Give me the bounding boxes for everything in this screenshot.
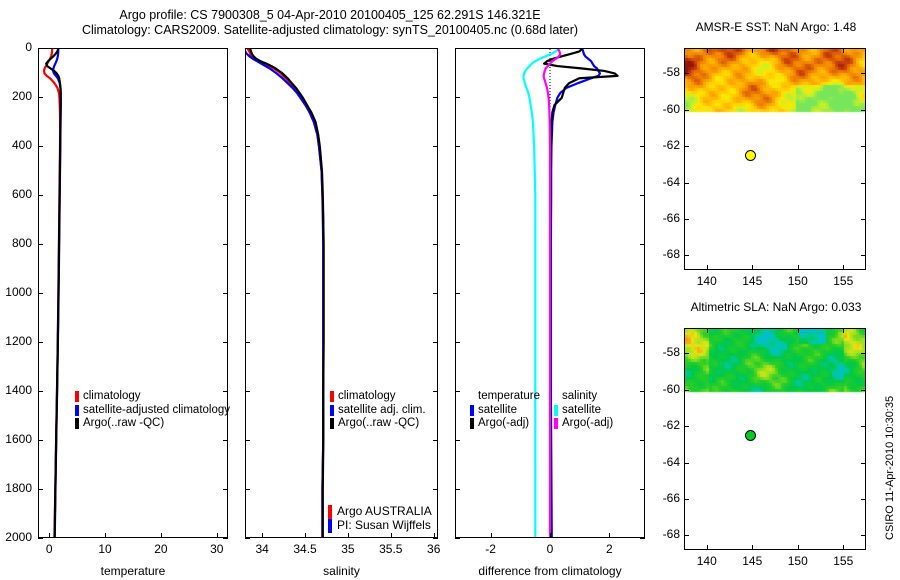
y-tick <box>433 97 438 98</box>
y-tick <box>640 538 645 539</box>
y-tick <box>455 97 460 98</box>
sst-argo-marker <box>745 150 756 161</box>
legend-group-header: temperature <box>470 390 540 404</box>
legend-color-swatch <box>330 405 334 416</box>
legend-label: Argo(-adj) <box>478 417 529 431</box>
legend-label: Argo(..raw -QC) <box>83 417 164 431</box>
y-tick <box>223 146 228 147</box>
y-tick <box>684 110 689 111</box>
y-tick <box>245 489 250 490</box>
y-tick <box>38 48 43 49</box>
x-tick-label: 30 <box>195 542 239 556</box>
y-tick <box>433 440 438 441</box>
legend-item: satellite adj. clim. <box>330 404 426 418</box>
y-tick <box>38 195 43 196</box>
temperature-profile-panel[interactable] <box>38 48 228 538</box>
x-tick <box>798 265 799 270</box>
y-tick <box>433 293 438 294</box>
y-tick-label: -66 <box>652 491 680 505</box>
y-tick <box>245 293 250 294</box>
x-tick <box>161 533 162 538</box>
y-tick-label: 1600 <box>0 432 32 446</box>
y-tick <box>223 440 228 441</box>
x-tick <box>305 533 306 538</box>
y-tick <box>861 219 866 220</box>
x-tick-label: 0 <box>528 542 572 556</box>
y-tick-label: -66 <box>652 211 680 225</box>
y-tick-label: 200 <box>0 89 32 103</box>
y-tick-label: 1000 <box>0 285 32 299</box>
difference-profile-panel[interactable] <box>455 48 645 538</box>
y-tick <box>455 48 460 49</box>
figure-title-line2: Climatology: CARS2009. Satellite-adjuste… <box>0 23 660 38</box>
sla-heatmap-canvas <box>685 329 865 549</box>
x-tick <box>798 545 799 550</box>
legend-item: satellite <box>554 404 613 418</box>
legend-color-swatch <box>554 418 558 429</box>
x-tick-label: 140 <box>687 554 727 568</box>
x-tick-label: 34.5 <box>283 542 327 556</box>
difference-legend: temperaturesatelliteArgo(-adj)salinitysa… <box>470 390 645 431</box>
y-tick-label: -60 <box>652 382 680 396</box>
y-tick <box>245 146 250 147</box>
y-tick <box>433 342 438 343</box>
salinity-profile-panel[interactable] <box>245 48 438 538</box>
y-tick <box>455 293 460 294</box>
y-tick <box>861 73 866 74</box>
figure-title: Argo profile: CS 7900308_5 04-Apr-2010 2… <box>0 8 660 38</box>
y-tick <box>433 146 438 147</box>
y-tick <box>861 390 866 391</box>
y-tick <box>684 146 689 147</box>
y-tick <box>861 463 866 464</box>
y-tick <box>455 195 460 196</box>
legend-color-swatch <box>554 405 558 416</box>
x-tick <box>391 533 392 538</box>
x-tick <box>707 265 708 270</box>
x-tick-label: 35.5 <box>369 542 413 556</box>
legend-group-header: salinity <box>554 390 613 404</box>
legend-column: salinitysatelliteArgo(-adj) <box>554 390 613 431</box>
y-tick <box>455 538 460 539</box>
x-tick <box>752 48 753 53</box>
x-tick-label: 2 <box>587 542 631 556</box>
x-tick <box>550 533 551 538</box>
y-tick <box>245 48 250 49</box>
salinity-legend: climatologysatellite adj. clim.Argo(..ra… <box>330 390 426 431</box>
y-tick <box>640 48 645 49</box>
y-tick <box>223 489 228 490</box>
y-tick <box>433 538 438 539</box>
salinity-profile-plot <box>246 49 437 537</box>
y-tick <box>684 353 689 354</box>
x-tick <box>262 533 263 538</box>
y-tick <box>640 440 645 441</box>
y-tick <box>455 391 460 392</box>
legend-label: satellite-adjusted climatology <box>83 404 230 418</box>
sst-heatmap-canvas <box>685 49 865 269</box>
x-tick-label: 150 <box>778 274 818 288</box>
y-tick <box>861 110 866 111</box>
x-tick <box>843 265 844 270</box>
y-tick <box>455 440 460 441</box>
y-tick <box>861 146 866 147</box>
x-tick-label: 34 <box>240 542 284 556</box>
sst-map-title: AMSR-E SST: NaN Argo: 1.48 <box>676 20 876 34</box>
legend-color-swatch <box>75 418 79 429</box>
y-tick <box>433 489 438 490</box>
x-tick-label: 155 <box>823 554 863 568</box>
y-tick <box>433 48 438 49</box>
y-tick-label: -68 <box>652 527 680 541</box>
csiro-timestamp: CSIRO 11-Apr-2010 10:30:35 <box>884 396 896 540</box>
legend-color-swatch <box>75 405 79 416</box>
legend-item: Argo(..raw -QC) <box>330 417 426 431</box>
x-tick <box>105 533 106 538</box>
y-tick <box>223 293 228 294</box>
credit-line1: Argo AUSTRALIA <box>337 504 432 518</box>
sla-map-title: Altimetric SLA: NaN Argo: 0.033 <box>676 300 876 314</box>
amsre-sst-map-panel[interactable] <box>684 48 866 270</box>
legend-color-swatch <box>330 391 334 402</box>
legend-label: climatology <box>338 390 396 404</box>
y-tick-label: -62 <box>652 138 680 152</box>
x-tick-label: 145 <box>732 274 772 288</box>
y-tick <box>38 244 43 245</box>
y-tick <box>640 244 645 245</box>
x-tick-label: 10 <box>83 542 127 556</box>
temperature-legend: climatologysatellite-adjusted climatolog… <box>75 390 230 431</box>
legend-item: climatology <box>75 390 230 404</box>
y-tick <box>223 97 228 98</box>
y-tick <box>684 183 689 184</box>
x-tick <box>752 545 753 550</box>
y-tick <box>640 342 645 343</box>
legend-column: temperaturesatelliteArgo(-adj) <box>470 390 540 431</box>
y-tick <box>455 489 460 490</box>
legend-label: climatology <box>83 390 141 404</box>
x-tick-label: 35 <box>326 542 370 556</box>
argo-flag-icon <box>328 505 332 533</box>
x-tick-label: 140 <box>687 274 727 288</box>
y-tick-label: 600 <box>0 187 32 201</box>
legend-item: climatology <box>330 390 426 404</box>
x-tick <box>843 328 844 333</box>
x-tick <box>491 533 492 538</box>
y-tick <box>38 293 43 294</box>
y-tick <box>245 195 250 196</box>
x-tick-label: 145 <box>732 554 772 568</box>
y-tick-label: 0 <box>0 40 32 54</box>
y-tick <box>684 73 689 74</box>
y-tick <box>684 463 689 464</box>
y-tick <box>223 342 228 343</box>
x-tick <box>798 328 799 333</box>
y-tick <box>861 426 866 427</box>
legend-label: Argo(-adj) <box>562 417 613 431</box>
difference-axis-label: difference from climatology <box>455 564 645 578</box>
y-tick-label: -58 <box>652 65 680 79</box>
y-tick <box>861 255 866 256</box>
y-tick <box>38 146 43 147</box>
x-tick <box>843 48 844 53</box>
argo-profile-figure: Argo profile: CS 7900308_5 04-Apr-2010 2… <box>0 0 900 580</box>
y-tick <box>455 342 460 343</box>
y-tick <box>245 97 250 98</box>
y-tick <box>38 391 43 392</box>
x-tick <box>707 328 708 333</box>
legend-item: Argo(-adj) <box>470 417 540 431</box>
x-tick-label: -2 <box>469 542 513 556</box>
legend-item: Argo(..raw -QC) <box>75 417 230 431</box>
x-tick-label: 20 <box>139 542 183 556</box>
y-tick <box>684 390 689 391</box>
salinity-axis-label: salinity <box>245 564 438 578</box>
y-tick <box>38 538 43 539</box>
legend-color-swatch <box>330 418 334 429</box>
legend-color-swatch <box>75 391 79 402</box>
legend-item: satellite <box>470 404 540 418</box>
y-tick-label: -64 <box>652 175 680 189</box>
y-tick <box>455 146 460 147</box>
y-tick-label: -58 <box>652 345 680 359</box>
y-tick <box>640 489 645 490</box>
y-tick <box>223 244 228 245</box>
temperature-axis-label: temperature <box>38 564 228 578</box>
y-tick <box>433 244 438 245</box>
y-tick <box>640 146 645 147</box>
y-tick <box>38 97 43 98</box>
y-tick <box>245 244 250 245</box>
y-tick <box>861 353 866 354</box>
legend-color-swatch <box>470 405 474 416</box>
legend-color-swatch <box>470 418 474 429</box>
x-tick-label: 150 <box>778 554 818 568</box>
figure-title-line1: Argo profile: CS 7900308_5 04-Apr-2010 2… <box>0 8 660 23</box>
legend-label: Argo(..raw -QC) <box>338 417 419 431</box>
y-tick <box>684 499 689 500</box>
y-tick <box>223 48 228 49</box>
x-tick-label: 36 <box>412 542 456 556</box>
sla-argo-marker <box>745 430 756 441</box>
difference-profile-plot <box>456 49 644 537</box>
y-tick <box>640 195 645 196</box>
x-tick <box>217 533 218 538</box>
y-tick <box>861 499 866 500</box>
y-tick-label: 800 <box>0 236 32 250</box>
altimetric-sla-map-panel[interactable] <box>684 328 866 550</box>
y-tick-label: 2000 <box>0 530 32 544</box>
y-tick <box>861 535 866 536</box>
y-tick-label: -68 <box>652 247 680 261</box>
temperature-profile-plot <box>39 49 227 537</box>
x-tick <box>752 265 753 270</box>
y-tick-label: -60 <box>652 102 680 116</box>
y-tick-label: -64 <box>652 455 680 469</box>
y-tick-label: 400 <box>0 138 32 152</box>
legend-label: satellite <box>478 404 517 418</box>
x-tick <box>707 48 708 53</box>
legend-label: satellite <box>562 404 601 418</box>
y-tick-label: 1400 <box>0 383 32 397</box>
y-tick <box>38 440 43 441</box>
y-tick <box>245 440 250 441</box>
y-tick <box>684 219 689 220</box>
y-tick <box>223 538 228 539</box>
x-tick <box>609 533 610 538</box>
legend-item: satellite-adjusted climatology <box>75 404 230 418</box>
y-tick <box>223 195 228 196</box>
y-tick <box>38 342 43 343</box>
x-tick <box>843 545 844 550</box>
y-tick <box>861 183 866 184</box>
y-tick <box>684 535 689 536</box>
legend-label: satellite adj. clim. <box>338 404 426 418</box>
x-tick <box>752 328 753 333</box>
y-tick <box>245 538 250 539</box>
credit-line2: PI: Susan Wijffels <box>337 518 432 532</box>
x-tick <box>707 545 708 550</box>
y-tick <box>245 342 250 343</box>
y-tick <box>640 293 645 294</box>
x-tick-label: 0 <box>27 542 71 556</box>
x-tick <box>348 533 349 538</box>
y-tick <box>684 426 689 427</box>
x-tick <box>798 48 799 53</box>
y-tick <box>640 97 645 98</box>
y-tick <box>684 255 689 256</box>
x-tick <box>49 533 50 538</box>
y-tick <box>455 244 460 245</box>
y-tick <box>433 391 438 392</box>
x-tick-label: 155 <box>823 274 863 288</box>
y-tick-label: 1800 <box>0 481 32 495</box>
legend-item: Argo(-adj) <box>554 417 613 431</box>
y-tick <box>245 391 250 392</box>
argo-australia-credit: Argo AUSTRALIA PI: Susan Wijffels <box>328 504 432 533</box>
y-tick <box>433 195 438 196</box>
y-tick <box>38 489 43 490</box>
y-tick-label: -62 <box>652 418 680 432</box>
y-tick-label: 1200 <box>0 334 32 348</box>
